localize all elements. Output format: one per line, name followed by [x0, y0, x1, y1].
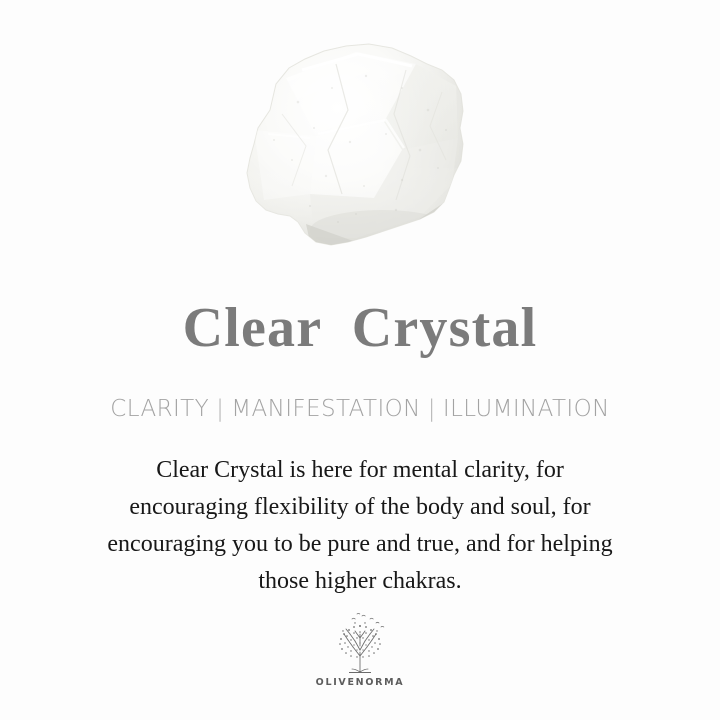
description-line: Clear Crystal is here for mental clarity… — [40, 452, 680, 489]
keyword-illumination: ILLUMINATION — [443, 396, 610, 422]
keyword-separator: | — [209, 396, 231, 422]
keyword-separator: | — [421, 396, 443, 422]
product-image-container — [0, 0, 720, 282]
raw-clear-quartz-crystal-icon — [206, 18, 506, 280]
keyword-list: CLARITY|MANIFESTATION|ILLUMINATION — [0, 394, 720, 424]
description-line: encouraging flexibility of the body and … — [40, 489, 680, 526]
product-description: Clear Crystal is here for mental clarity… — [40, 452, 680, 600]
brand-name: OLIVENORMA — [0, 677, 720, 689]
page-title: Clear Crystal — [0, 296, 720, 360]
description-line: those higher chakras. — [40, 563, 680, 600]
description-line: encouraging you to be pure and true, and… — [40, 526, 680, 563]
brand-logo: OLIVENORMA — [0, 612, 720, 689]
keyword-manifestation: MANIFESTATION — [231, 396, 420, 422]
tree-of-life-icon — [324, 612, 396, 674]
keyword-clarity: CLARITY — [110, 396, 209, 422]
product-info-card: Clear Crystal CLARITY|MANIFESTATION|ILLU… — [0, 0, 720, 720]
